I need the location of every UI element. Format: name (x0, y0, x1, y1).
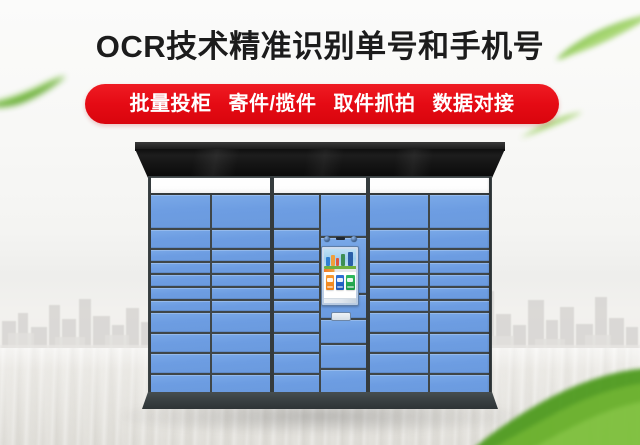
screen-action-buttons (324, 272, 356, 298)
screen-footer-bar (324, 298, 356, 303)
cabinet-base-plinth (142, 392, 498, 409)
locker-door[interactable] (274, 313, 319, 331)
locker-door[interactable] (430, 230, 489, 248)
send-label (327, 286, 334, 288)
panel-header-right (370, 177, 489, 195)
locker-door[interactable] (370, 275, 429, 286)
locker-door[interactable] (151, 375, 210, 393)
feature-item-send-collect: 寄件/揽件 (228, 93, 316, 115)
locker-door[interactable] (151, 354, 210, 372)
locker-door[interactable] (151, 334, 210, 352)
locker-column (370, 195, 429, 393)
locker-door[interactable] (212, 313, 271, 331)
locker-door[interactable] (212, 375, 271, 393)
locker-door[interactable] (151, 230, 210, 248)
locker-door[interactable] (274, 301, 319, 312)
locker-door[interactable] (274, 334, 319, 352)
locker-door[interactable] (321, 345, 366, 368)
locker-column (151, 195, 210, 393)
locker-door[interactable] (430, 301, 489, 312)
banner-figure (341, 254, 345, 266)
locker-door[interactable] (274, 375, 319, 393)
locker-door[interactable] (430, 288, 489, 299)
camera-lens-right-icon (351, 236, 357, 242)
locker-door[interactable] (274, 263, 319, 274)
locker-door[interactable] (212, 288, 271, 299)
banner-figure (331, 255, 335, 266)
feature-item-pickup-capture: 取件抓拍 (334, 93, 416, 115)
locker-door[interactable] (212, 250, 271, 261)
self-service-touchscreen-kiosk[interactable] (320, 234, 360, 326)
locker-door[interactable] (212, 263, 271, 274)
locker-door[interactable] (151, 288, 210, 299)
locker-door[interactable] (151, 263, 210, 274)
locker-door[interactable] (370, 313, 429, 331)
scanner-bar-icon (336, 237, 345, 240)
panel-header-middle (274, 177, 365, 195)
feature-item-data-docking: 数据对接 (433, 93, 515, 115)
banner-figure (326, 257, 330, 266)
locker-door[interactable] (430, 275, 489, 286)
canopy-highlight (135, 149, 505, 178)
locker-column (430, 195, 489, 393)
other-service-icon (347, 278, 353, 282)
locker-door[interactable] (151, 275, 210, 286)
locker-door[interactable] (151, 195, 210, 228)
locker-door[interactable] (321, 370, 366, 393)
locker-door[interactable] (370, 288, 429, 299)
locker-door[interactable] (274, 288, 319, 299)
banner-figure (336, 258, 339, 266)
card-scanner-tray[interactable] (331, 312, 351, 321)
locker-door[interactable] (370, 263, 429, 274)
delivery-illustration-banner (324, 249, 356, 269)
locker-door[interactable] (430, 354, 489, 372)
locker-door[interactable] (151, 301, 210, 312)
feature-item-batch-deposit: 批量投柜 (129, 93, 211, 115)
locker-column (212, 195, 271, 393)
locker-door[interactable] (212, 301, 271, 312)
locker-door[interactable] (430, 263, 489, 274)
panel-header-left (151, 177, 270, 195)
pickup-icon (337, 278, 343, 282)
locker-door[interactable] (370, 230, 429, 248)
page-title: OCR技术精准识别单号和手机号 (0, 27, 640, 67)
locker-door[interactable] (430, 313, 489, 331)
locker-door[interactable] (151, 250, 210, 261)
other-service-label (347, 286, 354, 288)
camera-lens-left-icon (324, 236, 330, 242)
locker-grid-left (151, 195, 270, 393)
locker-door[interactable] (370, 301, 429, 312)
pickup-parcel-button[interactable] (336, 275, 345, 290)
pickup-label (337, 286, 344, 288)
banner-locker-graphic (348, 252, 353, 266)
locker-door[interactable] (370, 195, 429, 228)
kiosk-sensor-bar (323, 234, 357, 243)
locker-door[interactable] (430, 375, 489, 393)
kiosk-screen[interactable] (324, 249, 356, 303)
send-icon (327, 278, 333, 282)
locker-panel-left[interactable] (149, 177, 272, 393)
locker-door[interactable] (274, 230, 319, 248)
locker-door[interactable] (430, 195, 489, 228)
locker-door[interactable] (274, 250, 319, 261)
feature-pill-banner: 批量投柜 寄件/揽件 取件抓拍 数据对接 (85, 84, 559, 124)
locker-door[interactable] (212, 230, 271, 248)
locker-door[interactable] (212, 275, 271, 286)
locker-door[interactable] (274, 195, 319, 228)
locker-door[interactable] (370, 334, 429, 352)
locker-door[interactable] (274, 354, 319, 372)
locker-grid-right (370, 195, 489, 393)
locker-door[interactable] (212, 354, 271, 372)
promo-poster: OCR技术精准识别单号和手机号 批量投柜 寄件/揽件 取件抓拍 数据对接 (0, 0, 640, 445)
locker-door[interactable] (370, 250, 429, 261)
banner-ground (324, 266, 356, 269)
other-service-button[interactable] (346, 275, 355, 290)
locker-door[interactable] (370, 354, 429, 372)
locker-column (274, 195, 319, 393)
locker-door[interactable] (430, 334, 489, 352)
locker-panel-right[interactable] (368, 177, 491, 393)
kiosk-screen-bezel (321, 246, 359, 306)
locker-door[interactable] (212, 334, 271, 352)
canopy-awning (135, 142, 505, 178)
smart-parcel-locker-cabinet[interactable] (148, 176, 492, 406)
locker-door[interactable] (151, 313, 210, 331)
locker-door[interactable] (274, 275, 319, 286)
locker-door[interactable] (370, 375, 429, 393)
locker-door[interactable] (212, 195, 271, 228)
locker-door[interactable] (321, 195, 366, 236)
send-parcel-button[interactable] (326, 275, 335, 290)
locker-door[interactable] (430, 250, 489, 261)
